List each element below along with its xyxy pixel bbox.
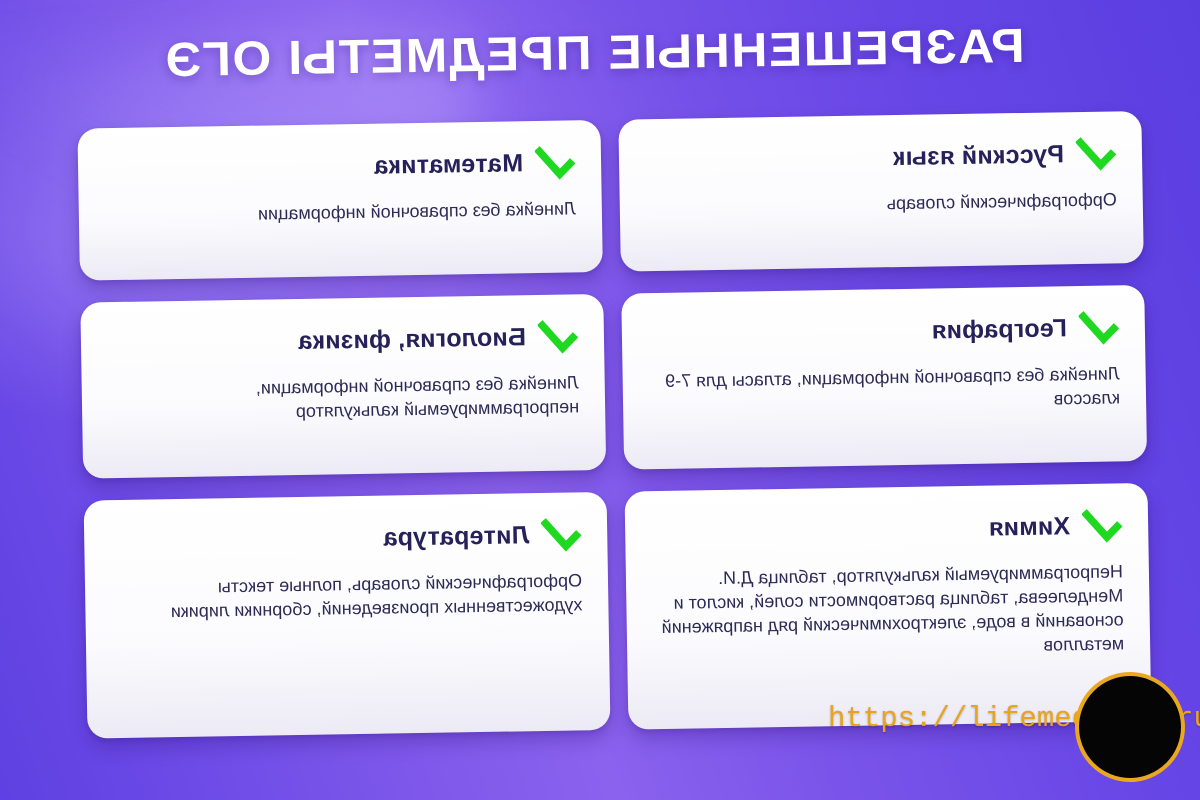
poster-background: РАЗРЕШЕННЫЕ ПРЕДМЕТЫ ОГЭ Русский язык Ор… bbox=[0, 0, 1200, 800]
screenshot-frame: РАЗРЕШЕННЫЕ ПРЕДМЕТЫ ОГЭ Русский язык Ор… bbox=[0, 0, 1200, 800]
card-description: Линейка без справочной информации bbox=[105, 196, 576, 228]
card-description: Линейка без справочной информации, атлас… bbox=[648, 361, 1120, 417]
card-title: Биология, физика bbox=[298, 323, 526, 356]
green-check-icon bbox=[1082, 505, 1123, 546]
logo-badge-icon bbox=[1075, 672, 1185, 782]
subject-card-biology-physics[interactable]: Биология, физика Линейка без справочной … bbox=[80, 294, 606, 479]
card-title: Математика bbox=[374, 149, 523, 180]
green-check-icon bbox=[541, 514, 582, 555]
subject-card-chemistry[interactable]: Химия Непрограммируемый калькулятор, таб… bbox=[625, 483, 1152, 730]
card-title: География bbox=[931, 314, 1067, 345]
card-header: Математика bbox=[104, 142, 576, 190]
card-description: Орфографический словарь, полные тексты х… bbox=[111, 568, 583, 624]
card-title: Литература bbox=[383, 521, 529, 552]
card-description: Орфографический словарь bbox=[646, 187, 1117, 219]
card-title: Химия bbox=[988, 512, 1070, 542]
green-check-icon bbox=[535, 142, 576, 183]
page-title: РАЗРЕШЕННЫЕ ПРЕДМЕТЫ ОГЭ bbox=[0, 17, 1200, 91]
green-check-icon bbox=[538, 316, 579, 357]
card-header: Русский язык bbox=[645, 133, 1117, 181]
card-header: География bbox=[648, 307, 1120, 355]
mirrored-poster-wrapper: РАЗРЕШЕННЫЕ ПРЕДМЕТЫ ОГЭ Русский язык Ор… bbox=[0, 0, 1200, 800]
card-header: Химия bbox=[651, 505, 1123, 553]
subject-card-geography[interactable]: География Линейка без справочной информа… bbox=[621, 285, 1147, 470]
subject-card-math[interactable]: Математика Линейка без справочной информ… bbox=[77, 120, 602, 281]
subjects-grid: Русский язык Орфографический словарь Мат… bbox=[77, 111, 1151, 739]
card-description: Непрограммируемый калькулятор, таблица Д… bbox=[652, 559, 1125, 663]
subject-card-literature[interactable]: Литература Орфографический словарь, полн… bbox=[84, 492, 611, 739]
card-title: Русский язык bbox=[893, 140, 1065, 172]
card-header: Биология, физика bbox=[107, 316, 579, 364]
green-check-icon bbox=[1076, 133, 1117, 174]
tilted-content-wrapper: РАЗРЕШЕННЫЕ ПРЕДМЕТЫ ОГЭ Русский язык Ор… bbox=[0, 0, 1200, 800]
card-description: Линейка без справочной информации, непро… bbox=[108, 370, 580, 426]
card-header: Литература bbox=[110, 514, 582, 562]
subject-card-russian[interactable]: Русский язык Орфографический словарь bbox=[618, 111, 1143, 272]
green-check-icon bbox=[1079, 307, 1120, 348]
